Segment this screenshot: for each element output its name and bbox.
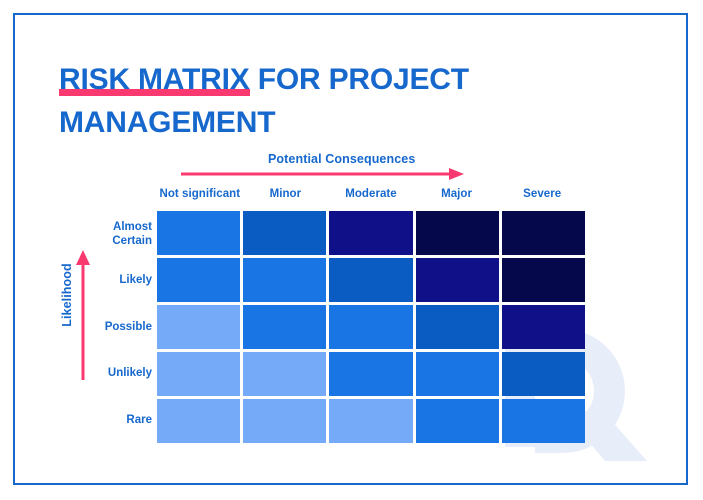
- matrix-cell[interactable]: [157, 399, 240, 443]
- row-header-unlikely: Unlikely: [92, 350, 152, 396]
- row-header-almost-certain: AlmostCertain: [92, 211, 152, 257]
- matrix-cell[interactable]: [416, 352, 499, 396]
- column-header-severe: Severe: [499, 188, 585, 200]
- arrow-up-icon: [76, 250, 90, 380]
- page-title: RISK MATRIX FOR PROJECT MANAGEMENT: [59, 59, 619, 144]
- title-highlight: RISK MATRIX: [59, 63, 250, 98]
- matrix-cell[interactable]: [502, 211, 585, 255]
- y-axis-title: Likelihood: [60, 225, 74, 365]
- matrix-cell[interactable]: [329, 352, 412, 396]
- matrix-cell[interactable]: [502, 258, 585, 302]
- matrix-cell[interactable]: [329, 258, 412, 302]
- risk-matrix-canvas: RISK MATRIX FOR PROJECT MANAGEMENT Poten…: [0, 0, 703, 500]
- matrix-cell[interactable]: [329, 305, 412, 349]
- column-header-major: Major: [414, 188, 500, 200]
- matrix-cell[interactable]: [416, 211, 499, 255]
- matrix-cell[interactable]: [502, 305, 585, 349]
- matrix-cell[interactable]: [329, 399, 412, 443]
- x-axis-title: Potential Consequences: [268, 152, 415, 166]
- row-header-rare: Rare: [92, 397, 152, 443]
- matrix-cell[interactable]: [243, 352, 326, 396]
- matrix-cell[interactable]: [157, 352, 240, 396]
- matrix-cell[interactable]: [157, 258, 240, 302]
- matrix-cell[interactable]: [243, 305, 326, 349]
- matrix-cell[interactable]: [416, 258, 499, 302]
- matrix-cell[interactable]: [157, 305, 240, 349]
- arrow-right-icon: [181, 168, 464, 180]
- matrix-cell[interactable]: [502, 352, 585, 396]
- row-header-likely-text: Likely: [119, 273, 152, 287]
- matrix-cell[interactable]: [243, 399, 326, 443]
- matrix-cell[interactable]: [416, 399, 499, 443]
- column-header-minor: Minor: [243, 188, 329, 200]
- row-header-rare-text: Rare: [126, 413, 152, 427]
- matrix-cell[interactable]: [243, 258, 326, 302]
- matrix-cell[interactable]: [243, 211, 326, 255]
- row-header-almost-certain-text: AlmostCertain: [112, 220, 152, 249]
- row-header-likely: Likely: [92, 257, 152, 303]
- column-headers: Not significant Minor Moderate Major Sev…: [157, 188, 585, 200]
- row-header-unlikely-text: Unlikely: [108, 366, 152, 380]
- matrix-cell[interactable]: [157, 211, 240, 255]
- column-header-moderate: Moderate: [328, 188, 414, 200]
- row-headers: AlmostCertain Likely Possible Unlikely R…: [92, 211, 152, 443]
- matrix-cell[interactable]: [416, 305, 499, 349]
- row-header-possible: Possible: [92, 304, 152, 350]
- row-header-possible-text: Possible: [105, 320, 152, 334]
- column-header-not-significant: Not significant: [157, 188, 243, 200]
- matrix-cell[interactable]: [502, 399, 585, 443]
- matrix-cell[interactable]: [329, 211, 412, 255]
- risk-matrix-grid: [157, 211, 585, 443]
